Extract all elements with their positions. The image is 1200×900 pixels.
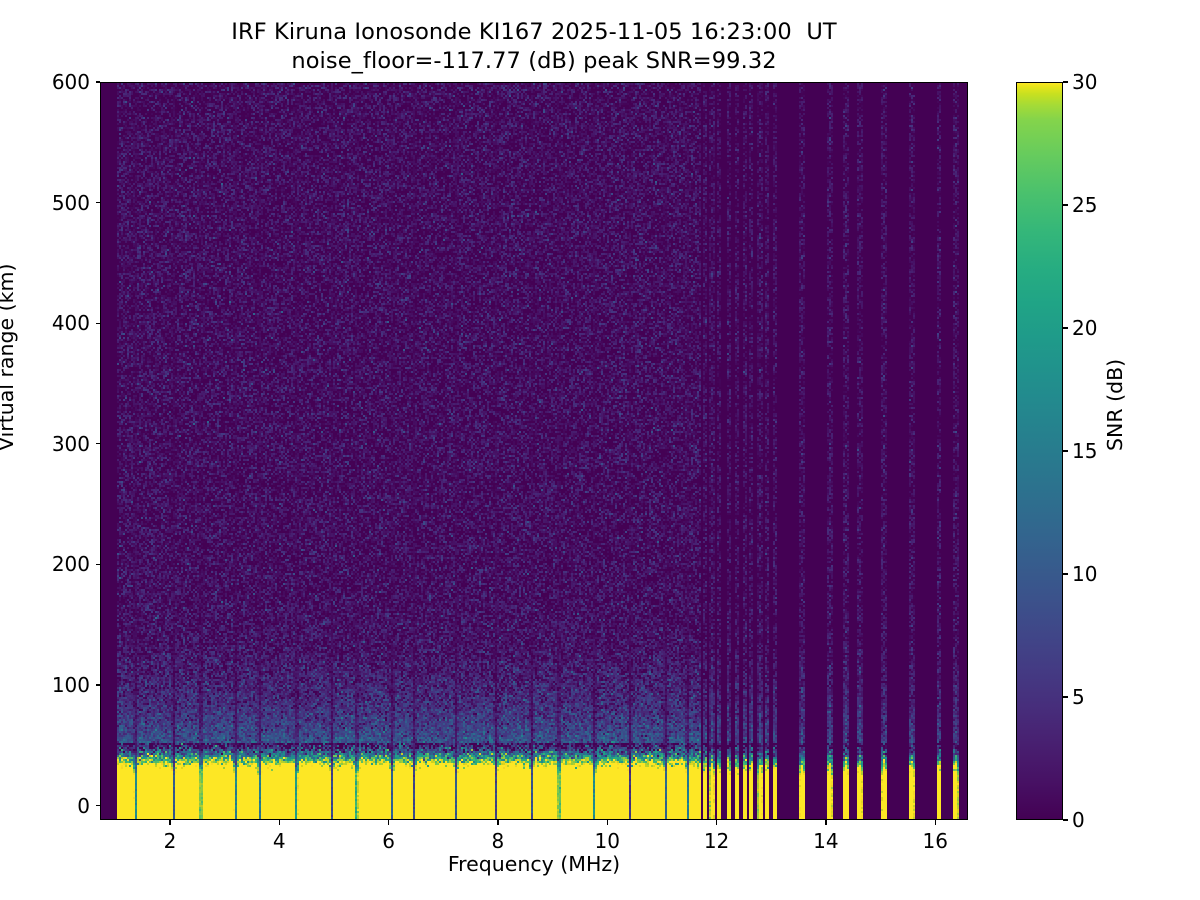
- title-line-2: noise_floor=-117.77 (dB) peak SNR=99.32: [100, 47, 968, 76]
- ionogram-heatmap[interactable]: [101, 83, 968, 820]
- colorbar-gradient: [1017, 83, 1062, 819]
- colorbar-label: SNR (dB): [1103, 359, 1127, 451]
- colorbar-tick-mark: [1063, 450, 1068, 451]
- y-tick-label: 100: [4, 673, 90, 697]
- colorbar-tick-label: 5: [1072, 685, 1085, 709]
- colorbar-tick-mark: [1063, 204, 1068, 205]
- x-tick-label: 6: [344, 829, 434, 853]
- x-tick-label: 8: [453, 829, 543, 853]
- colorbar-tick-label: 30: [1072, 70, 1097, 94]
- colorbar-tick-label: 10: [1072, 562, 1097, 586]
- colorbar-tick-mark: [1063, 573, 1068, 574]
- y-tick-mark: [96, 684, 101, 685]
- title-line-1: IRF Kiruna Ionosonde KI167 2025-11-05 16…: [100, 18, 968, 47]
- x-tick-label: 10: [562, 829, 652, 853]
- x-tick-mark: [388, 820, 389, 825]
- y-tick-mark: [96, 202, 101, 203]
- colorbar-tick-mark: [1063, 327, 1068, 328]
- colorbar-tick-mark: [1063, 696, 1068, 697]
- x-tick-mark: [935, 820, 936, 825]
- x-tick-label: 14: [781, 829, 871, 853]
- y-tick-mark: [96, 443, 101, 444]
- colorbar-tick-mark: [1063, 819, 1068, 820]
- x-tick-mark: [607, 820, 608, 825]
- colorbar-tick-label: 25: [1072, 193, 1097, 217]
- y-tick-label: 500: [4, 191, 90, 215]
- y-tick-mark: [96, 81, 101, 82]
- colorbar-tick-label: 15: [1072, 439, 1097, 463]
- y-tick-mark: [96, 805, 101, 806]
- colorbar-tick-label: 0: [1072, 808, 1085, 832]
- x-tick-mark: [716, 820, 717, 825]
- x-tick-label: 4: [234, 829, 324, 853]
- colorbar-tick-mark: [1063, 81, 1068, 82]
- colorbar-tick-label: 20: [1072, 316, 1097, 340]
- x-tick-mark: [169, 820, 170, 825]
- y-tick-label: 600: [4, 70, 90, 94]
- x-tick-mark: [825, 820, 826, 825]
- y-tick-label: 0: [4, 794, 90, 818]
- y-axis-label: Virtual range (km): [0, 264, 18, 451]
- x-axis-label: Frequency (MHz): [100, 852, 968, 876]
- figure-title: IRF Kiruna Ionosonde KI167 2025-11-05 16…: [100, 18, 968, 76]
- x-tick-mark: [279, 820, 280, 825]
- x-tick-label: 12: [672, 829, 762, 853]
- y-tick-label: 200: [4, 552, 90, 576]
- ionogram-plot-area[interactable]: [100, 82, 968, 820]
- ionogram-figure: IRF Kiruna Ionosonde KI167 2025-11-05 16…: [0, 0, 1200, 900]
- y-tick-mark: [96, 323, 101, 324]
- x-tick-mark: [497, 820, 498, 825]
- x-tick-label: 16: [890, 829, 980, 853]
- y-tick-mark: [96, 564, 101, 565]
- colorbar[interactable]: [1016, 82, 1063, 820]
- x-tick-label: 2: [125, 829, 215, 853]
